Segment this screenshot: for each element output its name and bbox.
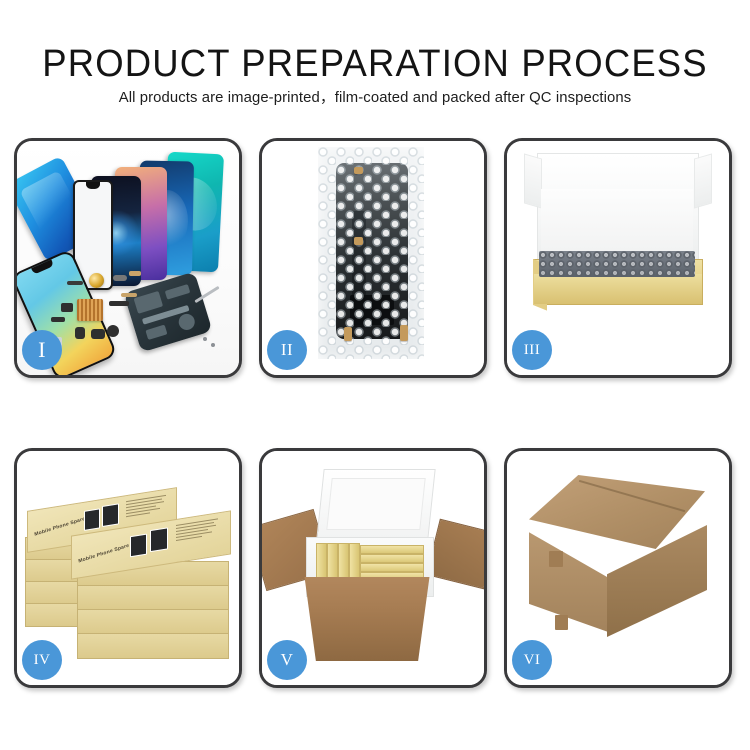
part-button xyxy=(75,327,85,339)
box-label-lines-rear xyxy=(126,495,168,520)
part-flex-2 xyxy=(61,303,73,312)
step-badge-6: VI xyxy=(512,640,552,680)
tape-tab-3 xyxy=(344,327,352,341)
process-step-3: III xyxy=(504,138,732,378)
bubble-wrap-bag xyxy=(318,147,424,359)
product-preparation-infographic: PRODUCT PREPARATION PROCESS All products… xyxy=(0,0,750,750)
part-flex-tan-2 xyxy=(121,293,137,297)
page-subtitle: All products are image-printed，film-coat… xyxy=(4,88,747,108)
part-vibrator xyxy=(107,325,119,337)
step-badge-2: II xyxy=(267,330,307,370)
tape-tab-2 xyxy=(354,237,363,245)
tape-tab-1 xyxy=(354,167,363,174)
process-step-grid: I II II xyxy=(14,138,736,682)
page-title: PRODUCT PREPARATION PROCESS xyxy=(15,42,735,86)
carton-flap-right xyxy=(426,519,484,590)
carton-left-face xyxy=(529,521,611,633)
process-step-4: Mobile Phone Spare Parts Mobile Phone Sp… xyxy=(14,448,242,688)
speaker-ring-part xyxy=(89,273,104,288)
box-label-screen-2 xyxy=(102,503,119,527)
screw-2 xyxy=(211,343,215,347)
taptic-grid-part xyxy=(77,299,103,321)
process-step-2: II xyxy=(259,138,487,378)
part-camera xyxy=(91,329,105,339)
process-step-1: I xyxy=(14,138,242,378)
process-step-5: V xyxy=(259,448,487,688)
notch-icon xyxy=(86,182,100,188)
part-bar-1 xyxy=(67,281,83,285)
bubble-wrapped-contents xyxy=(539,251,695,277)
carton-tape-upper xyxy=(549,551,563,567)
stacked-box-r2 xyxy=(77,585,229,611)
tape-tab-4 xyxy=(400,325,408,341)
carton-tape-lower xyxy=(555,615,568,630)
box-stack: Mobile Phone Spare Parts Mobile Phone Sp… xyxy=(21,465,231,671)
process-step-6: VI xyxy=(504,448,732,688)
stacked-box-r3 xyxy=(77,609,229,635)
step-badge-3: III xyxy=(512,330,552,370)
box-label-screen-1 xyxy=(84,508,100,531)
part-flex-3 xyxy=(51,317,65,322)
part-flex-tan-1 xyxy=(129,271,141,276)
step-badge-4: IV xyxy=(22,640,62,680)
box-label-screen-3 xyxy=(130,534,147,558)
step-badge-5: V xyxy=(267,640,307,680)
part-flex-1 xyxy=(113,275,127,281)
carton-top-face xyxy=(529,475,705,549)
foam-lid xyxy=(316,469,435,539)
box-label-lines-front xyxy=(176,518,220,543)
screw-1 xyxy=(203,337,207,341)
box-label-screen-4 xyxy=(150,527,168,552)
part-flex-4 xyxy=(109,301,129,306)
stacked-box-r4 xyxy=(77,633,229,659)
carton-body xyxy=(296,577,438,661)
step-badge-1: I xyxy=(22,330,62,370)
